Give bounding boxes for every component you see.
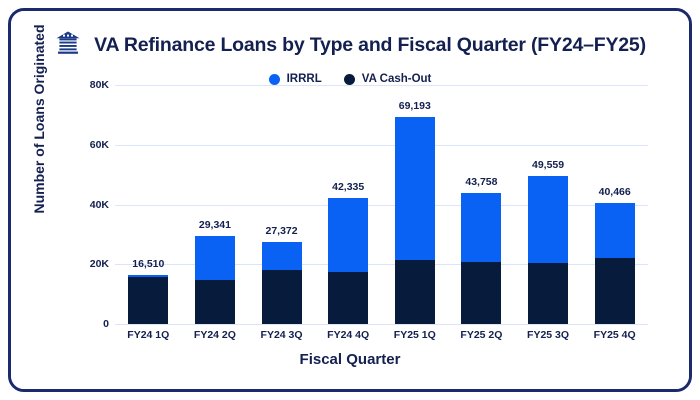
bar-segment-va-cash-out[interactable] (262, 270, 302, 324)
bar-group[interactable]: 49,559 (528, 85, 568, 324)
x-axis-tick-label: FY24 4Q (327, 329, 369, 341)
house-bank-icon (54, 29, 82, 62)
x-axis-tick-label: FY24 3Q (261, 329, 303, 341)
bar-stack[interactable] (395, 117, 435, 324)
bar-segment-irrrl[interactable] (528, 176, 568, 263)
bar-group[interactable]: 40,466 (595, 85, 635, 324)
y-axis-tick-labels: 020K40K60K80K (59, 85, 109, 324)
bar-total-label: 27,372 (265, 225, 297, 237)
x-axis-tick-label: FY25 4Q (594, 329, 636, 341)
bar-total-label: 42,335 (332, 181, 364, 193)
bar-total-label: 69,193 (399, 100, 431, 112)
legend-item-irrrl[interactable]: IRRRL (269, 73, 322, 85)
bar-segment-va-cash-out[interactable] (595, 258, 635, 324)
bar-segment-irrrl[interactable] (461, 193, 501, 262)
bar-segment-irrrl[interactable] (328, 198, 368, 272)
bar-segment-va-cash-out[interactable] (395, 260, 435, 324)
bar-group[interactable]: 69,193 (395, 85, 435, 324)
plot-area: 16,51029,34127,37242,33569,19343,75849,5… (115, 85, 648, 324)
bar-group[interactable]: 43,758 (461, 85, 501, 324)
gridline (115, 324, 648, 325)
bar-group[interactable]: 42,335 (328, 85, 368, 324)
bar-stack[interactable] (461, 193, 501, 324)
bar-segment-va-cash-out[interactable] (195, 280, 235, 324)
chart-header: VA Refinance Loans by Type and Fiscal Qu… (11, 29, 689, 62)
x-axis-tick-label: FY25 3Q (527, 329, 569, 341)
bar-segment-irrrl[interactable] (262, 242, 302, 270)
y-axis-title: Number of Loans Originated (31, 14, 47, 224)
bar-stack[interactable] (595, 203, 635, 324)
legend-item-va-cash-out[interactable]: VA Cash-Out (344, 73, 432, 85)
bar-total-label: 40,466 (599, 186, 631, 198)
legend-label-irrrl: IRRRL (287, 73, 322, 85)
bar-segment-va-cash-out[interactable] (128, 277, 168, 325)
bar-total-label: 29,341 (199, 219, 231, 231)
bar-segment-irrrl[interactable] (395, 117, 435, 260)
bar-segment-irrrl[interactable] (128, 275, 168, 277)
bars-layer: 16,51029,34127,37242,33569,19343,75849,5… (115, 85, 648, 324)
y-axis-tick-label: 80K (90, 79, 109, 91)
bar-stack[interactable] (528, 176, 568, 324)
legend-dot-icon (269, 74, 280, 85)
x-axis-tick-label: FY25 2Q (460, 329, 502, 341)
bar-stack[interactable] (195, 236, 235, 324)
x-axis-title: Fiscal Quarter (11, 351, 689, 368)
chart-legend: IRRRL VA Cash-Out (11, 73, 689, 85)
bar-stack[interactable] (262, 242, 302, 324)
bar-total-label: 16,510 (132, 258, 164, 270)
chart-title: VA Refinance Loans by Type and Fiscal Qu… (94, 34, 646, 57)
x-axis-tick-label: FY24 1Q (127, 329, 169, 341)
bar-segment-va-cash-out[interactable] (461, 262, 501, 324)
y-axis-tick-label: 40K (90, 199, 109, 211)
y-axis-tick-label: 60K (90, 139, 109, 151)
y-axis-tick-label: 0 (103, 318, 109, 330)
bar-stack[interactable] (328, 198, 368, 324)
bar-total-label: 43,758 (465, 176, 497, 188)
bar-stack[interactable] (128, 275, 168, 324)
bar-group[interactable]: 27,372 (262, 85, 302, 324)
bar-group[interactable]: 16,510 (128, 85, 168, 324)
x-axis-tick-label: FY24 2Q (194, 329, 236, 341)
legend-dot-icon (344, 74, 355, 85)
bar-segment-va-cash-out[interactable] (328, 272, 368, 324)
chart-card: VA Refinance Loans by Type and Fiscal Qu… (8, 8, 692, 392)
y-axis-tick-label: 20K (90, 258, 109, 270)
bar-total-label: 49,559 (532, 159, 564, 171)
x-axis-tick-label: FY25 1Q (394, 329, 436, 341)
legend-label-va-cash-out: VA Cash-Out (362, 73, 432, 85)
bar-segment-irrrl[interactable] (595, 203, 635, 258)
bar-segment-irrrl[interactable] (195, 236, 235, 279)
x-axis-tick-labels: FY24 1QFY24 2QFY24 3QFY24 4QFY25 1QFY25 … (115, 329, 648, 347)
bar-group[interactable]: 29,341 (195, 85, 235, 324)
bar-segment-va-cash-out[interactable] (528, 263, 568, 324)
chart-card-inner: VA Refinance Loans by Type and Fiscal Qu… (11, 11, 689, 389)
